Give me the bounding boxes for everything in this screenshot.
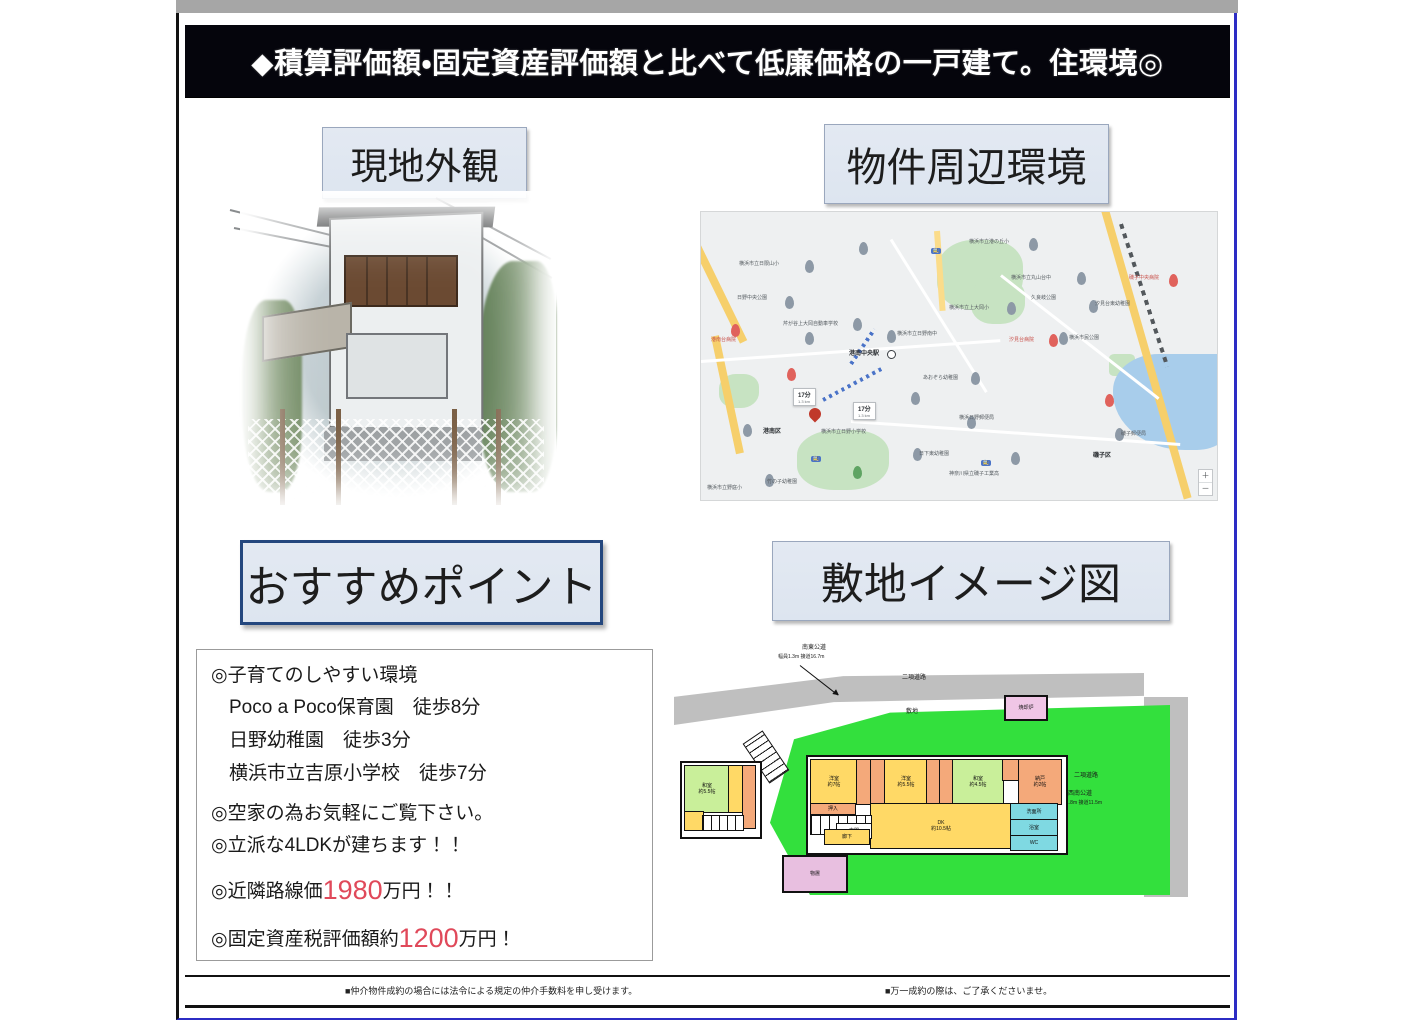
price-value: 1980 <box>323 875 383 905</box>
station-label: 港南中央駅 <box>849 348 879 357</box>
map-poi-label: 横浜市立日野小学校 <box>821 428 866 435</box>
walk-distance-value: 1.3 km <box>798 399 811 404</box>
road-southwest-label: 西南公道 <box>1068 791 1092 798</box>
room-nando-1: 納戸約2帖 <box>1018 759 1062 805</box>
map-district-label: 港南区 <box>763 426 781 435</box>
map-poi-label: 横浜市立上大岡小 <box>949 304 989 311</box>
map-poi-label: 磯子中央病院 <box>1129 274 1159 281</box>
map-zoom-controls[interactable]: ＋ － <box>1198 469 1213 496</box>
corridor <box>702 815 744 831</box>
section-title-siteplan: 敷地イメージ図 <box>772 541 1170 621</box>
walk-time-badge: 17分 1.3 km <box>853 402 876 420</box>
section-title-exterior-label: 現地外観 <box>351 136 499 190</box>
walking-route <box>849 328 876 365</box>
map-poi-label: 横浜日野郵便局 <box>959 414 994 421</box>
list-item: Poco a Poco保育園 徒歩8分 <box>211 698 652 718</box>
map-poi-label: 日野中央公園 <box>737 294 767 301</box>
room-size: 約10.5帖 <box>931 826 951 832</box>
map-pin[interactable] <box>785 296 794 309</box>
flyer-sheet: ◆積算評価額・固定資産評価額と比べて低廉価格の一戸建て。住環境◎ 現地外観 物件… <box>176 13 1237 1020</box>
section-title-surroundings-label: 物件周辺環境 <box>847 135 1087 193</box>
map-pin[interactable] <box>887 330 896 343</box>
list-item-price: ◎近隣路線価1980万円！！ <box>211 876 652 904</box>
road-southeast-spec: 幅員1.3m 接道16.7m <box>778 655 824 661</box>
house-body <box>329 212 483 434</box>
list-item: ◎立派な4LDKが建ちます！！ <box>211 836 652 856</box>
map-pin[interactable] <box>743 424 752 437</box>
closet <box>742 765 756 829</box>
map-zoom-in-button[interactable]: ＋ <box>1199 470 1212 482</box>
map-pin[interactable] <box>1077 272 1086 285</box>
walk-distance-value: 1.3 km <box>858 413 871 418</box>
room-size: 約2帖 <box>1034 782 1047 788</box>
toilet: WC <box>1010 835 1058 851</box>
map-poi-label: 竹の子幼稚園 <box>767 478 797 485</box>
price-suffix: 万円！ <box>459 929 516 950</box>
transit-badge: 🚉 <box>931 248 941 254</box>
map-poi-label: 日下東幼稚園 <box>919 450 949 457</box>
oshiire-label: 押入 <box>828 806 838 812</box>
map-poi-label: 久良岐公園 <box>1031 294 1056 301</box>
transit-badge: 🚉 <box>981 460 991 466</box>
map-pin[interactable] <box>805 332 814 345</box>
room-youshitsu-2: 洋室約5.5帖 <box>884 759 928 805</box>
map-pin-hospital[interactable] <box>787 368 796 381</box>
map-pin-park[interactable] <box>853 466 862 479</box>
map-poi-label: 汐見台病院 <box>1009 336 1034 343</box>
map-pin[interactable] <box>805 260 814 273</box>
map-poi-label: 磯子郵便局 <box>1121 430 1146 437</box>
map-pin[interactable] <box>1011 452 1020 465</box>
oshiire: 押入 <box>810 803 856 815</box>
neighborhood-map[interactable]: 港南中央駅 17分 1.3 km 17分 1.3 km <box>700 211 1218 501</box>
walking-route <box>822 367 882 402</box>
points-box: ◎子育てのしやすい環境 Poco a Poco保育園 徒歩8分 日野幼稚園 徒歩… <box>196 649 653 961</box>
footer-note-right: ■万一成約の際は、ご了承くださいませ。 <box>885 984 1052 997</box>
map-poi-label: 港南台病院 <box>711 336 736 343</box>
section-title-exterior: 現地外観 <box>322 127 527 199</box>
map-zoom-out-button[interactable]: － <box>1199 482 1212 495</box>
price-value: 1200 <box>399 923 459 953</box>
section-title-points-label: おすすめポイント <box>246 551 598 615</box>
map-pin[interactable] <box>1059 332 1068 345</box>
map-road <box>700 232 747 343</box>
transit-badge: 🚉 <box>811 456 821 462</box>
setback-label-right: 二項道路 <box>1074 773 1098 780</box>
section-title-surroundings: 物件周辺環境 <box>824 124 1109 204</box>
section-title-siteplan-label: 敷地イメージ図 <box>821 550 1121 612</box>
fence-post <box>336 409 341 505</box>
fence-post <box>452 409 457 505</box>
price-suffix: 万円！！ <box>383 881 459 902</box>
room-washitsu-1: 和室約4.5帖 <box>952 759 1004 805</box>
toilet-label: WC <box>1030 840 1038 846</box>
map-pin-hospital[interactable] <box>1049 334 1058 347</box>
map-poi-label: 横浜市立日限山小 <box>739 260 779 267</box>
room-size: 約5.5帖 <box>898 782 915 788</box>
map-pin-hospital[interactable] <box>1169 274 1178 287</box>
map-poi-label: 横浜市民公園 <box>1069 334 1099 341</box>
outbuilding-incinerator: 焼却炉 <box>1004 695 1048 721</box>
slide-canvas: ◆積算評価額・固定資産評価額と比べて低廉価格の一戸建て。住環境◎ 現地外観 物件… <box>0 0 1423 1022</box>
road-southeast-label: 南東公道 <box>802 645 826 652</box>
site-plan-diagram: 南東公道 幅員1.3m 接道16.7m 二項道路 二項道路 西南公道 幅員1.8… <box>674 637 1230 953</box>
house-window <box>346 333 448 399</box>
slide-top-strip <box>176 0 1238 13</box>
price-prefix: ◎固定資産税評価額約 <box>211 929 399 950</box>
map-district-label: 磯子区 <box>1093 450 1111 459</box>
banner-title: ◆積算評価額・固定資産評価額と比べて低廉価格の一戸建て。住環境◎ <box>251 40 1163 82</box>
list-item: ◎子育てのしやすい環境 <box>211 666 652 686</box>
room-size: 約4.5帖 <box>970 782 987 788</box>
map-poi-label: 芹が谷上大岡自動車学校 <box>783 320 838 327</box>
footer-band: ■仲介物件成約の場合には法令による規定の仲介手数料を申し受けます。 ■万一成約の… <box>185 975 1230 1008</box>
map-pin[interactable] <box>859 242 868 255</box>
map-pin[interactable] <box>853 318 862 331</box>
station-marker <box>887 350 896 359</box>
map-pin[interactable] <box>971 372 980 385</box>
header-banner: ◆積算評価額・固定資産評価額と比べて低廉価格の一戸建て。住環境◎ <box>185 25 1230 97</box>
setback-label-top: 二項道路 <box>902 675 926 682</box>
property-photo <box>240 191 556 511</box>
room-youshitsu-1: 洋室約7帖 <box>810 759 858 805</box>
land-label: 敷地 <box>906 709 918 716</box>
property-location-marker <box>807 406 824 423</box>
outbuilding-label: 焼却炉 <box>1018 705 1033 711</box>
map-poi-label: 横浜市立野庭小 <box>707 484 742 491</box>
bathroom-label: 浴室 <box>1029 825 1039 831</box>
hallway: 廊下 <box>824 829 870 845</box>
hallway-label: 廊下 <box>842 834 852 840</box>
list-item-price: ◎固定資産税評価額約1200万円！ <box>211 924 652 952</box>
list-item: 日野幼稚園 徒歩3分 <box>211 731 652 751</box>
list-item: 横浜市立吉原小学校 徒歩7分 <box>211 764 652 784</box>
washroom-label: 洗面所 <box>1026 809 1041 815</box>
fence-post <box>280 409 285 505</box>
storage-label: 物置 <box>810 871 820 877</box>
price-prefix: ◎近隣路線価 <box>211 881 323 902</box>
map-poi-label: 神奈川県立磯子工業高 <box>949 470 999 477</box>
map-poi-label: 横浜市立日野南中 <box>897 330 937 337</box>
map-pin[interactable] <box>1007 302 1016 315</box>
footer-note-left: ■仲介物件成約の場合には法令による規定の仲介手数料を申し受けます。 <box>345 984 637 997</box>
map-pin[interactable] <box>911 392 920 405</box>
map-pin[interactable] <box>1029 238 1038 251</box>
list-item: ◎空家の為お気軽にご覧下さい。 <box>211 804 652 824</box>
walk-time-badge: 17分 1.3 km <box>793 388 816 406</box>
fence-post <box>496 409 501 505</box>
map-poi-label: 横浜市立港の丘小 <box>969 238 1009 245</box>
room-size: 約7帖 <box>828 782 841 788</box>
section-title-points: おすすめポイント <box>240 540 603 625</box>
map-poi-label: 汐見台東幼稚園 <box>1095 300 1130 307</box>
map-pin-hospital[interactable] <box>1105 394 1114 407</box>
entry <box>684 811 704 831</box>
house-balcony <box>344 255 458 307</box>
storage-shed: 物置 <box>782 855 848 893</box>
park-area <box>971 278 1025 324</box>
room-dk: DK約10.5帖 <box>870 803 1012 849</box>
room-size: 約5.5帖 <box>699 789 716 795</box>
map-poi-label: あおぞら幼稚園 <box>923 374 958 381</box>
points-list: ◎子育てのしやすい環境 Poco a Poco保育園 徒歩8分 日野幼稚園 徒歩… <box>197 650 652 952</box>
map-poi-label: 横浜市立丸山台中 <box>1011 274 1051 281</box>
room-washitsu-2: 和室約5.5帖 <box>684 765 730 813</box>
